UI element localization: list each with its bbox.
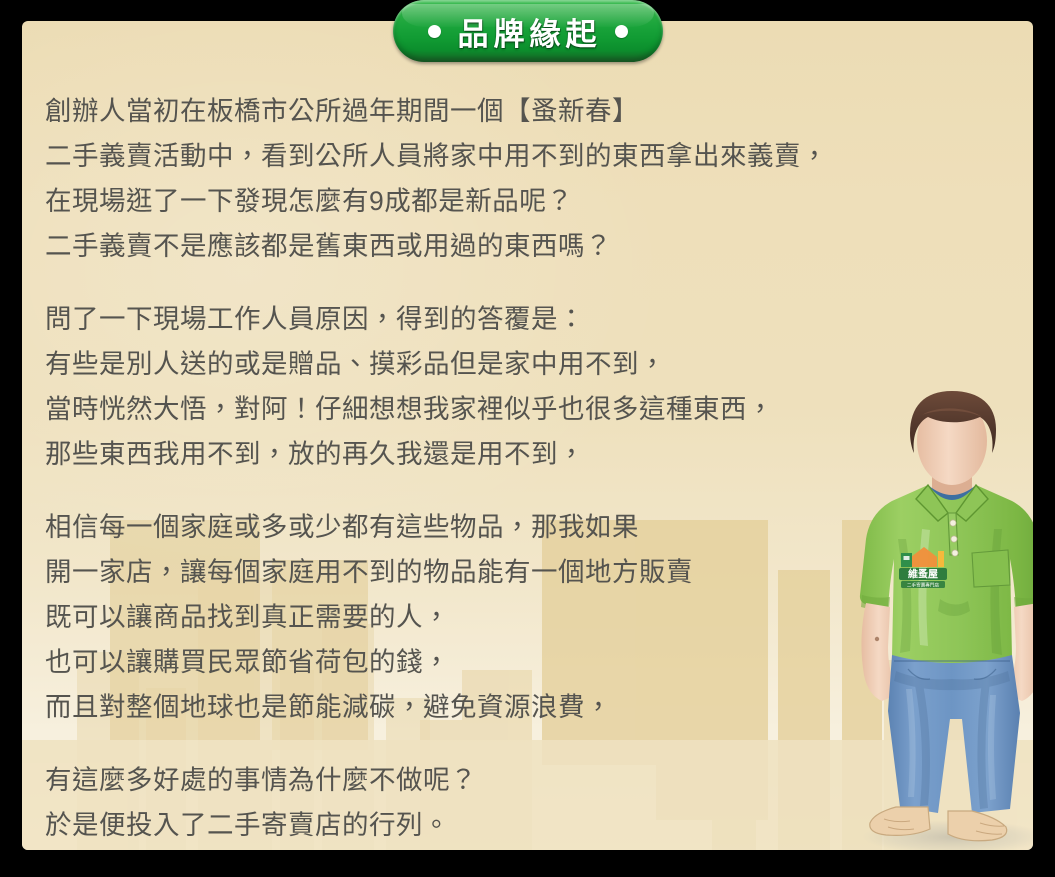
paragraph-4: 有這麼多好處的事情為什麼不做呢？ 於是便投入了二手寄賣店的行列。 [45, 758, 875, 848]
bullet-dot-icon [615, 25, 628, 38]
bullet-dot-icon [428, 25, 441, 38]
page-title: 品牌緣起 [454, 9, 602, 54]
paragraph-2: 問了一下現場工作人員原因，得到的答覆是： 有些是別人送的或是贈品、摸彩品但是家中… [45, 297, 875, 477]
text-line: 而且對整個地球也是節能減碳，避免資源浪費， [45, 685, 875, 730]
screenshot-root: 創辦人當初在板橋市公所過年期間一個【蚤新春】 二手義賣活動中，看到公所人員將家中… [0, 0, 1055, 877]
title-badge-wrapper: 品牌緣起 [0, 0, 1055, 72]
text-line: 創辦人當初在板橋市公所過年期間一個【蚤新春】 [45, 89, 875, 134]
story-text-block: 創辦人當初在板橋市公所過年期間一個【蚤新春】 二手義賣活動中，看到公所人員將家中… [45, 89, 875, 848]
text-line: 既可以讓商品找到真正需要的人， [45, 595, 875, 640]
text-line: 當時恍然大悟，對阿！仔細想想我家裡似乎也很多這種東西， [45, 387, 875, 432]
paragraph-3: 相信每一個家庭或多或少都有這些物品，那我如果 開一家店，讓每個家庭用不到的物品能… [45, 505, 875, 730]
svg-text:二手寄賣專門店: 二手寄賣專門店 [907, 582, 940, 589]
figure-shirt-pocket [972, 550, 1010, 587]
content-panel: 創辦人當初在板橋市公所過年期間一個【蚤新春】 二手義賣活動中，看到公所人員將家中… [22, 21, 1033, 850]
text-line: 有這麼多好處的事情為什麼不做呢？ [45, 758, 875, 803]
shop-staff-illustration: 維蚤屋 二手寄賣專門店 [844, 389, 1033, 850]
text-line: 二手義賣不是應該都是舊東西或用過的東西嗎？ [45, 224, 875, 269]
text-line: 也可以讓購買民眾節省荷包的錢， [45, 640, 875, 685]
text-line: 有些是別人送的或是贈品、摸彩品但是家中用不到， [45, 342, 875, 387]
title-badge: 品牌緣起 [393, 0, 663, 62]
shirt-button [951, 536, 957, 542]
text-line: 二手義賣活動中，看到公所人員將家中用不到的東西拿出來義賣， [45, 134, 875, 179]
text-line: 問了一下現場工作人員原因，得到的答覆是： [45, 297, 875, 342]
text-line: 相信每一個家庭或多或少都有這些物品，那我如果 [45, 505, 875, 550]
shirt-button [952, 550, 958, 556]
text-line: 於是便投入了二手寄賣店的行列。 [45, 803, 875, 848]
paragraph-1: 創辦人當初在板橋市公所過年期間一個【蚤新春】 二手義賣活動中，看到公所人員將家中… [45, 89, 875, 269]
shirt-button [950, 520, 956, 526]
text-line: 那些東西我用不到，放的再久我還是用不到， [45, 432, 875, 477]
figure-placket [948, 513, 958, 555]
text-line: 開一家店，讓每個家庭用不到的物品能有一個地方販賣 [45, 550, 875, 595]
svg-text:維蚤屋: 維蚤屋 [908, 567, 938, 580]
text-line: 在現場逛了一下發現怎麼有9成都是新品呢？ [45, 179, 875, 224]
